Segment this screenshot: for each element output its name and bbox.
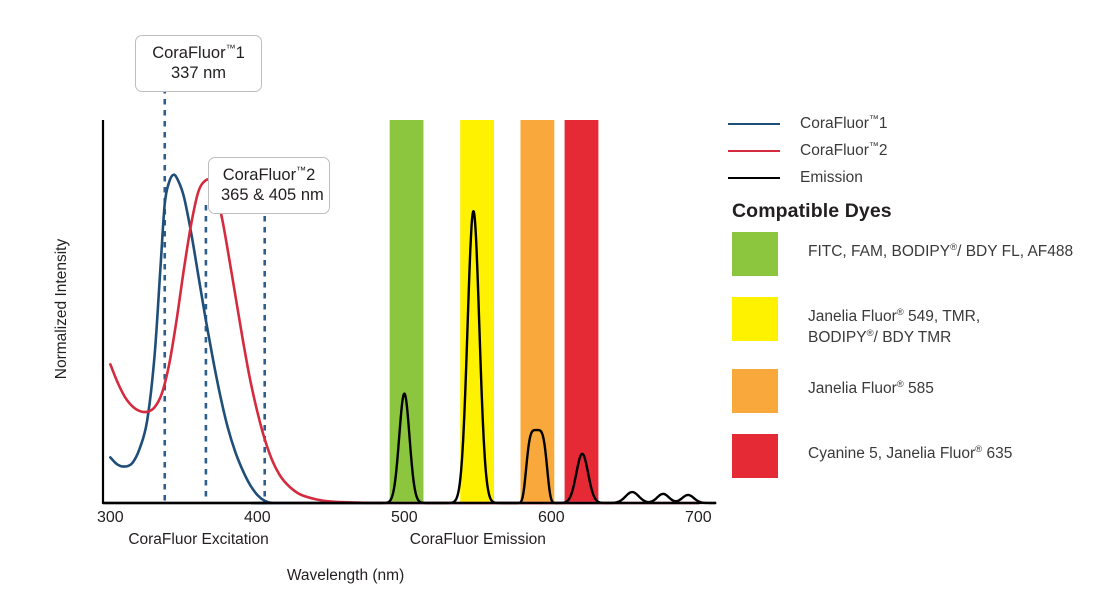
x-tick-400: 400 bbox=[227, 509, 287, 527]
dye-label: Janelia Fluor® 549, TMR,BODIPY®/ BDY TMR bbox=[808, 297, 980, 348]
dye-color-swatch bbox=[732, 232, 778, 276]
callout-corafluor2-line2: 365 & 405 nm bbox=[221, 185, 317, 205]
dye-label: FITC, FAM, BODIPY®/ BDY FL, AF488 bbox=[808, 232, 1073, 263]
callout-corafluor1-line1: CoraFluor™1 bbox=[148, 43, 249, 63]
right-panel: CoraFluor™1CoraFluor™2Emission Compatibl… bbox=[728, 0, 1110, 612]
callout-corafluor2: CoraFluor™2 365 & 405 nm bbox=[208, 157, 330, 214]
dye-label: Cyanine 5, Janelia Fluor® 635 bbox=[808, 434, 1012, 465]
x-axis-title: Wavelength (nm) bbox=[246, 567, 446, 585]
dye-color-swatch bbox=[732, 434, 778, 478]
callout-corafluor1-line2: 337 nm bbox=[148, 63, 249, 83]
x-tick-600: 600 bbox=[521, 509, 581, 527]
dye-label-line: Janelia Fluor® 585 bbox=[808, 379, 934, 400]
x-axis-section-excitation: CoraFluor Excitation bbox=[104, 531, 294, 549]
legend-swatch-line bbox=[728, 177, 780, 179]
x-axis-section-emission: CoraFluor Emission bbox=[383, 531, 573, 549]
dye-label-line: Cyanine 5, Janelia Fluor® 635 bbox=[808, 444, 1012, 465]
chart-legend: CoraFluor™1CoraFluor™2Emission bbox=[728, 110, 1068, 191]
green-band bbox=[390, 120, 424, 503]
dye-label-line: BODIPY®/ BDY TMR bbox=[808, 328, 980, 349]
legend-item-label: Emission bbox=[800, 169, 863, 187]
legend-item-label: CoraFluor™2 bbox=[800, 141, 888, 160]
legend-swatch-line bbox=[728, 150, 780, 152]
compatible-dyes-title: Compatible Dyes bbox=[732, 200, 892, 223]
legend-item-0: CoraFluor™1 bbox=[728, 110, 1068, 137]
dye-label: Janelia Fluor® 585 bbox=[808, 369, 934, 400]
legend-item-2: Emission bbox=[728, 164, 1068, 191]
dye-label-line: FITC, FAM, BODIPY®/ BDY FL, AF488 bbox=[808, 242, 1073, 263]
dye-color-swatch bbox=[732, 297, 778, 341]
red-band bbox=[565, 120, 599, 503]
dye-row-2: Janelia Fluor® 585 bbox=[732, 369, 1108, 413]
legend-item-1: CoraFluor™2 bbox=[728, 137, 1068, 164]
legend-item-label: CoraFluor™1 bbox=[800, 114, 888, 133]
orange-band bbox=[520, 120, 554, 503]
compatible-dyes-list: FITC, FAM, BODIPY®/ BDY FL, AF488Janelia… bbox=[732, 232, 1108, 499]
chart-plot-area: CoraFluor™1 337 nm CoraFluor™2 365 & 405… bbox=[0, 0, 740, 612]
dye-row-3: Cyanine 5, Janelia Fluor® 635 bbox=[732, 434, 1108, 478]
y-axis-title: Normalized Intensity bbox=[53, 219, 71, 399]
callout-corafluor1: CoraFluor™1 337 nm bbox=[135, 35, 262, 92]
x-tick-300: 300 bbox=[80, 509, 140, 527]
callout-corafluor2-line1: CoraFluor™2 bbox=[221, 165, 317, 185]
figure-root: CoraFluor™1 337 nm CoraFluor™2 365 & 405… bbox=[0, 0, 1110, 612]
x-tick-700: 700 bbox=[668, 509, 728, 527]
dye-row-1: Janelia Fluor® 549, TMR,BODIPY®/ BDY TMR bbox=[732, 297, 1108, 348]
dye-label-line: Janelia Fluor® 549, TMR, bbox=[808, 307, 980, 328]
legend-swatch-line bbox=[728, 123, 780, 125]
dye-row-0: FITC, FAM, BODIPY®/ BDY FL, AF488 bbox=[732, 232, 1108, 276]
dye-color-swatch bbox=[732, 369, 778, 413]
yellow-band bbox=[460, 120, 494, 503]
x-tick-500: 500 bbox=[374, 509, 434, 527]
